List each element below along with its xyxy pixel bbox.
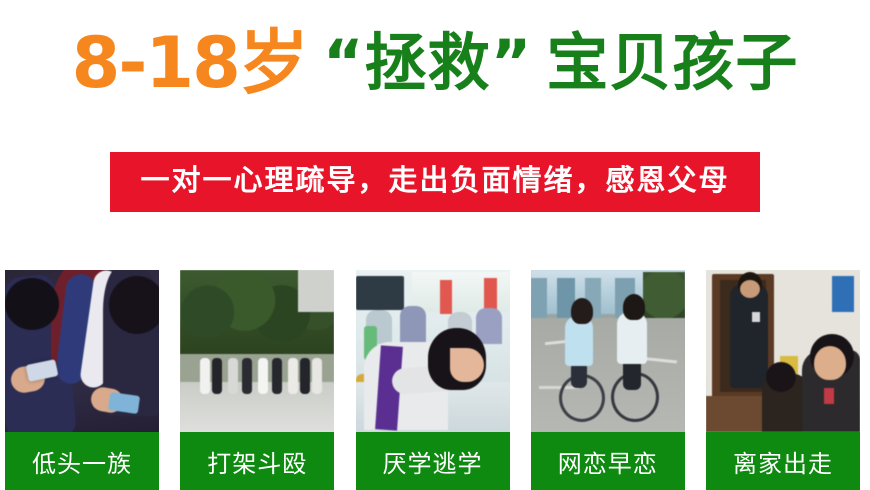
figure-shape	[312, 358, 322, 394]
blackboard-shape	[356, 276, 404, 310]
figure-shape	[258, 358, 268, 394]
figure-shape	[228, 358, 238, 394]
building-shape	[298, 270, 334, 312]
head-shape-right	[109, 276, 159, 334]
street-fight-photo	[180, 270, 334, 432]
promo-banner: 8-18岁“拯救”宝贝孩子 一对一心理疏导，走出负面情绪，感恩父母	[0, 0, 870, 490]
figure-shape	[288, 358, 298, 394]
road-shape	[531, 318, 685, 432]
photo-blur-layer	[5, 270, 159, 432]
list-item[interactable]: 打架斗殴	[180, 270, 334, 490]
badge-shape	[752, 312, 760, 322]
face-shape	[450, 348, 484, 382]
students-on-phones-photo	[5, 270, 159, 432]
photo-blur-layer	[356, 270, 510, 432]
list-item[interactable]: 厌学逃学	[356, 270, 510, 490]
face-shape	[740, 280, 760, 298]
head-shape	[766, 362, 796, 392]
headline-quote-close: ”	[491, 26, 533, 99]
list-item[interactable]: 低头一族	[5, 270, 159, 490]
police-station-photo	[706, 270, 860, 432]
photo-blur-layer	[531, 270, 685, 432]
list-item[interactable]: 网恋早恋	[531, 270, 685, 490]
subheadline-banner: 一对一心理疏导，走出负面情绪，感恩父母	[110, 152, 759, 212]
head-shape	[571, 298, 593, 324]
figure-shape	[212, 358, 222, 394]
list-item-label: 离家出走	[706, 432, 860, 490]
page-title: 8-18岁“拯救”宝贝孩子	[0, 28, 870, 98]
headline-subject: 宝贝孩子	[546, 26, 798, 99]
figure-shape	[272, 358, 282, 394]
police-officer-shape	[730, 284, 768, 388]
photo-blur-layer	[180, 270, 334, 432]
headline-keyword: 拯救	[365, 26, 491, 99]
wall-sign-shape	[832, 276, 854, 312]
list-item-label: 打架斗殴	[180, 432, 334, 490]
subheadline-container: 一对一心理疏导，走出负面情绪，感恩父母	[0, 152, 870, 212]
list-item-label: 网恋早恋	[531, 432, 685, 490]
background-student-shape	[400, 306, 426, 344]
list-item-label: 厌学逃学	[356, 432, 510, 490]
list-item-label: 低头一族	[5, 432, 159, 490]
headline-age-range: 8-18岁	[72, 22, 307, 104]
wall-banner-shape	[440, 280, 452, 314]
headline-quote-open: “	[323, 26, 365, 99]
teen-couple-cycling-photo	[531, 270, 685, 432]
face-shape	[814, 346, 846, 380]
figure-shape	[300, 358, 310, 394]
figure-shape	[242, 358, 252, 394]
head-shape	[623, 294, 645, 320]
photo-blur-layer	[706, 270, 860, 432]
problem-card-list: 低头一族 打架斗	[5, 270, 860, 490]
figure-shape	[200, 358, 210, 394]
list-item[interactable]: 离家出走	[706, 270, 860, 490]
head-shape-left	[5, 278, 59, 330]
scarf-shape	[824, 388, 834, 404]
classroom-sleeping-photo	[356, 270, 510, 432]
